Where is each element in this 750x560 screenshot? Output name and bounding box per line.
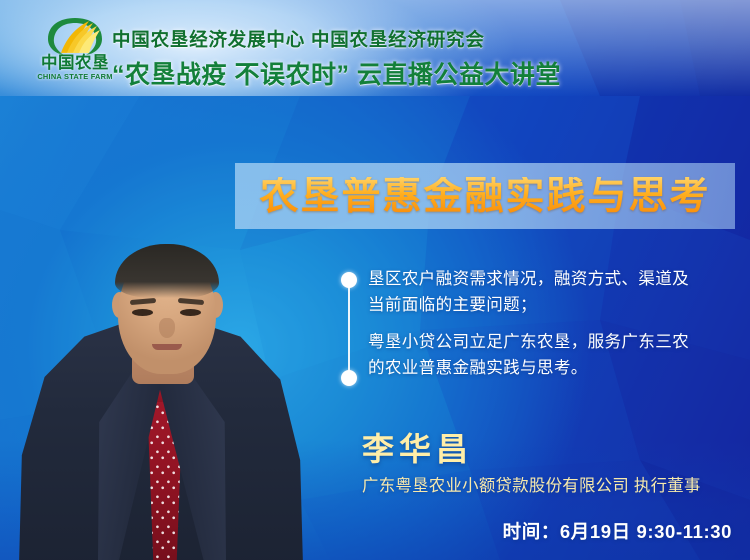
topic-item: 垦区农户融资需求情况，融资方式、渠道及 当前面临的主要问题； — [368, 266, 689, 318]
topic-line: 粤垦小贷公司立足广东农垦，服务广东三农 — [368, 329, 689, 355]
poster-header: 中国农垦 CHINA STATE FARM 中国农垦经济发展中心 中国农垦经济研… — [0, 0, 750, 96]
topic-line: 当前面临的主要问题； — [368, 292, 689, 318]
portrait-mouth — [152, 344, 182, 350]
bullet-dot-icon — [341, 272, 357, 288]
topic-list: 垦区农户融资需求情况，融资方式、渠道及 当前面临的主要问题； 粤垦小贷公司立足广… — [338, 266, 738, 390]
portrait-eye-right — [180, 309, 201, 316]
speaker-portrait — [14, 90, 304, 560]
logo-english-name: CHINA STATE FARM — [26, 73, 124, 80]
bullet-connector-line — [348, 279, 350, 377]
china-state-farm-logo-icon — [44, 17, 106, 57]
logo-chinese-name: 中国农垦 — [26, 55, 124, 72]
portrait-eye-left — [132, 309, 153, 316]
speaker-role: 广东粤垦农业小额贷款股份有限公司 执行董事 — [362, 472, 701, 496]
topic-line: 垦区农户融资需求情况，融资方式、渠道及 — [368, 266, 689, 292]
poster-title: 农垦普惠金融实践与思考 — [259, 177, 710, 216]
portrait-hair — [115, 244, 219, 298]
webinar-poster: 中国农垦 CHINA STATE FARM 中国农垦经济发展中心 中国农垦经济研… — [0, 0, 750, 560]
topic-item: 粤垦小贷公司立足广东农垦，服务广东三农 的农业普惠金融实践与思考。 — [368, 329, 689, 381]
topic-line: 的农业普惠金融实践与思考。 — [368, 355, 689, 381]
title-banner: 农垦普惠金融实践与思考 — [235, 163, 735, 229]
portrait-nose — [159, 318, 175, 338]
bullet-dot-icon — [341, 370, 357, 386]
brand-logo: 中国农垦 CHINA STATE FARM — [26, 17, 124, 87]
header-organizers: 中国农垦经济发展中心 中国农垦经济研究会 — [112, 26, 485, 52]
header-series-title: “农垦战疫 不误农时” 云直播公益大讲堂 — [112, 55, 561, 91]
speaker-name: 李华昌 — [362, 424, 473, 470]
schedule-time: 时间：6月19日 9:30-11:30 — [503, 518, 732, 544]
